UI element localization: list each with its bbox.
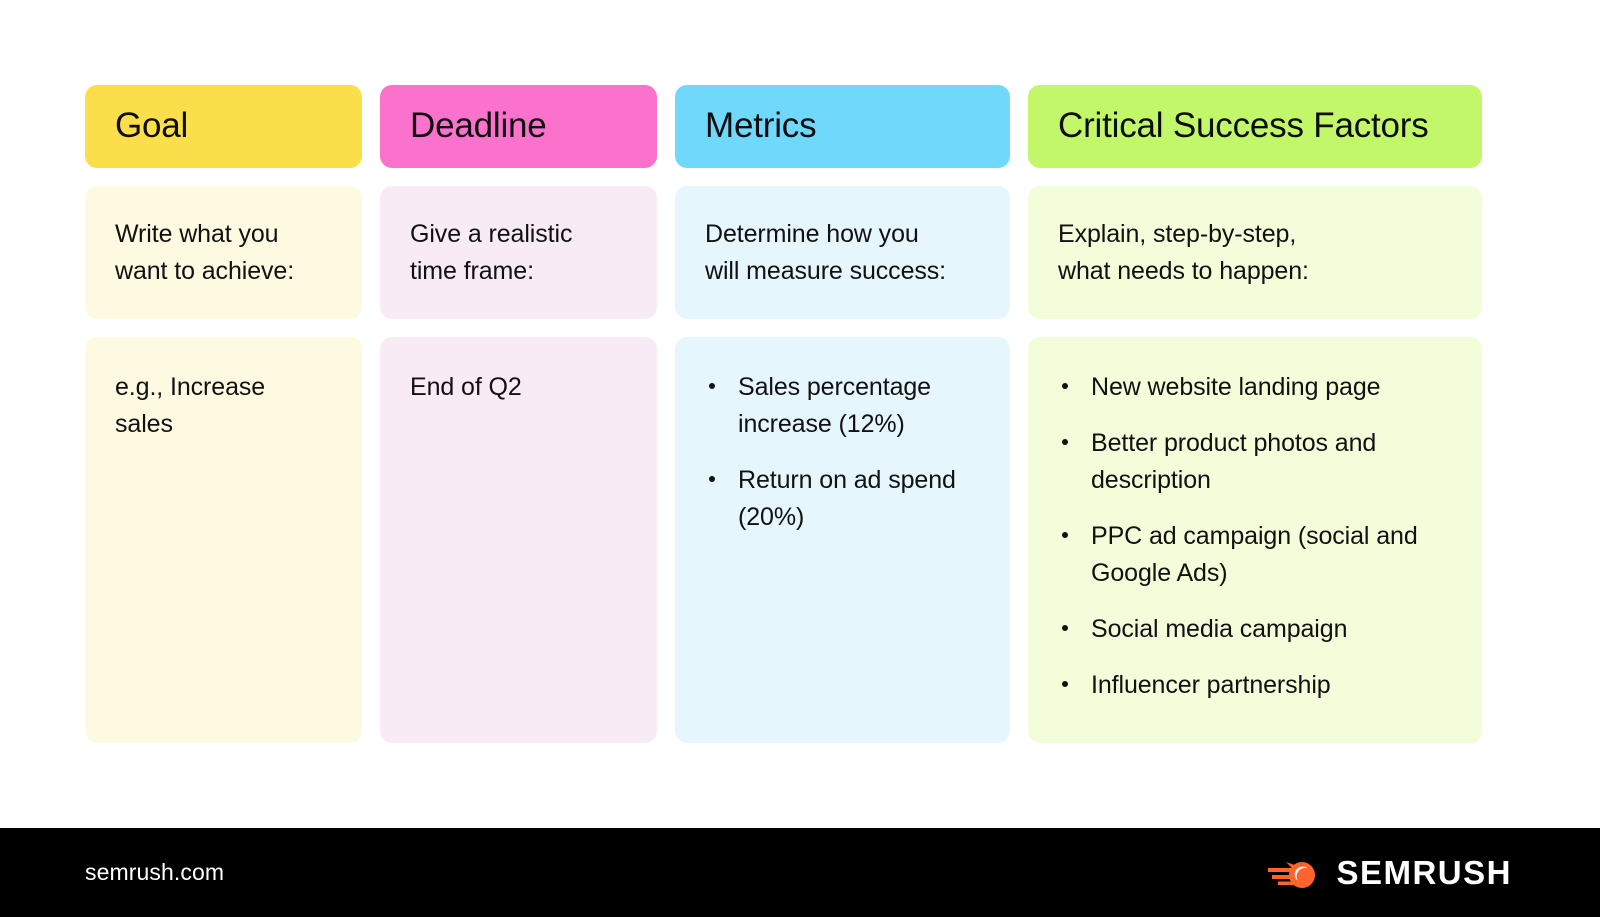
column-header-label: Goal bbox=[115, 107, 188, 146]
column-content-deadline: End of Q2 bbox=[380, 337, 657, 743]
semrush-comet-icon bbox=[1266, 854, 1322, 892]
column-header-label: Metrics bbox=[705, 107, 816, 146]
column-content-critical-success-factors: New website landing pageBetter product p… bbox=[1028, 337, 1482, 743]
list-item: Sales percentage increase (12%) bbox=[705, 369, 982, 443]
footer-bar: semrush.com SEMRUSH bbox=[0, 828, 1600, 917]
column-description-critical-success-factors: Explain, step-by-step, what needs to hap… bbox=[1028, 186, 1482, 319]
column-header-critical-success-factors: Critical Success Factors bbox=[1028, 85, 1482, 168]
column-header-label: Critical Success Factors bbox=[1058, 107, 1429, 146]
column-header-goal: Goal bbox=[85, 85, 362, 168]
bullet-dot-icon bbox=[709, 383, 715, 389]
column-description-text: Write what you want to achieve: bbox=[115, 216, 332, 290]
column-description-goal: Write what you want to achieve: bbox=[85, 186, 362, 319]
list-item-label: Sales percentage increase (12%) bbox=[738, 373, 931, 438]
list-item-label: Return on ad spend (20%) bbox=[738, 466, 956, 531]
list-item: Return on ad spend (20%) bbox=[705, 462, 982, 536]
bullet-dot-icon bbox=[1062, 383, 1068, 389]
column-description-text: Give a realistic time frame: bbox=[410, 216, 627, 290]
column-header-metrics: Metrics bbox=[675, 85, 1010, 168]
list-item: PPC ad campaign (social and Google Ads) bbox=[1058, 518, 1454, 592]
column-header-label: Deadline bbox=[410, 107, 547, 146]
column-content-text: e.g., Increase sales bbox=[115, 369, 334, 443]
list-item-label: Better product photos and description bbox=[1091, 429, 1376, 494]
list-item-label: New website landing page bbox=[1091, 373, 1380, 401]
list-item: Influencer partnership bbox=[1058, 667, 1454, 704]
bullet-dot-icon bbox=[709, 476, 715, 482]
column-content-list: Sales percentage increase (12%)Return on… bbox=[705, 369, 982, 536]
bullet-dot-icon bbox=[1062, 625, 1068, 631]
bullet-dot-icon bbox=[1062, 532, 1068, 538]
list-item-label: Influencer partnership bbox=[1091, 671, 1331, 699]
page-root: Goal Deadline Metrics Critical Success F… bbox=[0, 0, 1600, 917]
column-description-deadline: Give a realistic time frame: bbox=[380, 186, 657, 319]
column-description-text: Determine how you will measure success: bbox=[705, 216, 980, 290]
column-content-goal: e.g., Increase sales bbox=[85, 337, 362, 743]
bullet-dot-icon bbox=[1062, 681, 1068, 687]
list-item: Social media campaign bbox=[1058, 611, 1454, 648]
list-item: Better product photos and description bbox=[1058, 425, 1454, 499]
column-header-deadline: Deadline bbox=[380, 85, 657, 168]
footer-site-url[interactable]: semrush.com bbox=[85, 859, 224, 886]
list-item-label: PPC ad campaign (social and Google Ads) bbox=[1091, 522, 1418, 587]
column-description-text: Explain, step-by-step, what needs to hap… bbox=[1058, 216, 1452, 290]
column-content-metrics: Sales percentage increase (12%)Return on… bbox=[675, 337, 1010, 743]
column-content-text: End of Q2 bbox=[410, 369, 629, 406]
semrush-logo[interactable]: SEMRUSH bbox=[1266, 854, 1512, 892]
column-content-list: New website landing pageBetter product p… bbox=[1058, 369, 1454, 704]
column-description-metrics: Determine how you will measure success: bbox=[675, 186, 1010, 319]
list-item: New website landing page bbox=[1058, 369, 1454, 406]
list-item-label: Social media campaign bbox=[1091, 615, 1347, 643]
semrush-wordmark: SEMRUSH bbox=[1336, 854, 1512, 892]
smart-goal-board: Goal Deadline Metrics Critical Success F… bbox=[85, 85, 1483, 742]
bullet-dot-icon bbox=[1062, 439, 1068, 445]
